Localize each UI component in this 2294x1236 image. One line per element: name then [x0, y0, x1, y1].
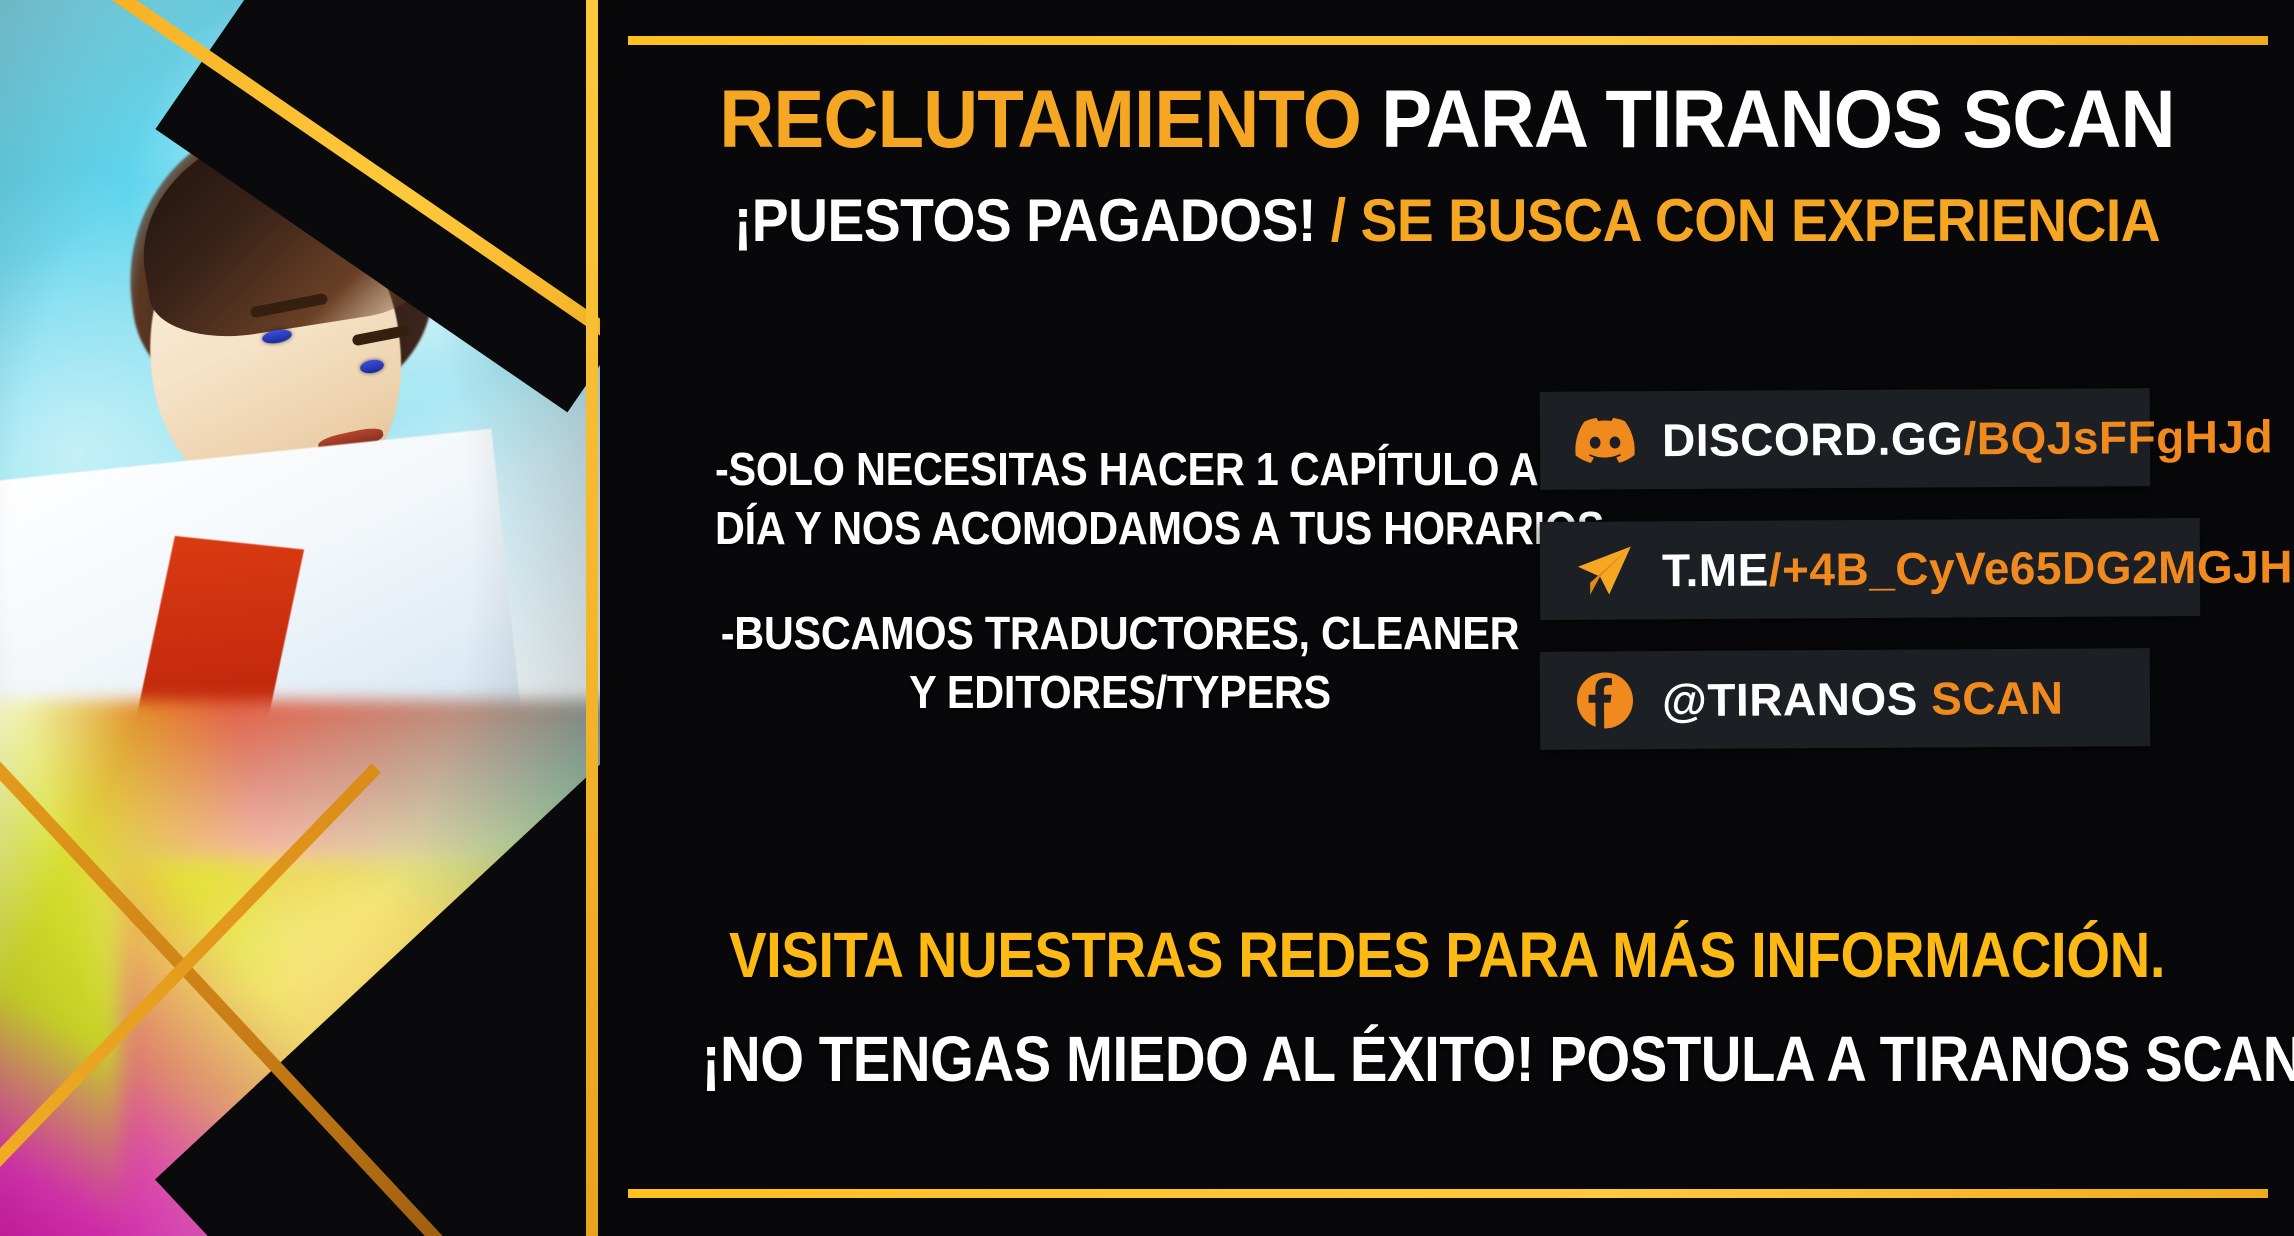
gold-rule-bottom: [628, 1189, 2268, 1198]
telegram-label: T.ME/+4B_CyVe65DG2MGJH: [1662, 539, 2293, 597]
title-rest: PARA TIRANOS SCAN: [1381, 74, 2174, 165]
facebook-handle-suffix: SCAN: [1931, 672, 2064, 725]
facebook-icon: [1574, 669, 1636, 731]
discord-icon: [1574, 409, 1636, 471]
discord-domain: DISCORD.GG: [1662, 412, 1964, 466]
artwork-panel: [0, 0, 600, 1236]
requirements-list: -SOLO NECESITAS HACER 1 CAPÍTULO AL DÍA …: [715, 440, 1525, 722]
discord-invite-code: /BQJsFFgHJd: [1963, 410, 2273, 464]
subtitle-experience: / SE BUSCA CON EXPERIENCIA: [1331, 187, 2160, 254]
discord-label: DISCORD.GG/BQJsFFgHJd: [1662, 409, 2273, 467]
telegram-icon: [1574, 539, 1636, 601]
contact-cards: DISCORD.GG/BQJsFFgHJd T.ME/+4B_CyVe65DG2…: [1540, 390, 2260, 780]
page-title: RECLUTAMIENTO PARA TIRANOS SCAN: [659, 78, 2234, 162]
contact-card-telegram[interactable]: T.ME/+4B_CyVe65DG2MGJH: [1540, 518, 2201, 620]
cta-line-2: ¡NO TENGAS MIEDO AL ÉXITO! POSTULA A TIR…: [702, 1022, 2193, 1096]
telegram-domain: T.ME: [1662, 544, 1769, 597]
telegram-invite-code: /+4B_CyVe65DG2MGJH: [1769, 540, 2294, 595]
cta-line-1: VISITA NUESTRAS REDES PARA MÁS INFORMACI…: [702, 918, 2193, 992]
title-highlight: RECLUTAMIENTO: [719, 74, 1361, 165]
requirement-line-3: -BUSCAMOS TRADUCTORES, CLEANER: [715, 604, 1525, 663]
requirement-line-2: DÍA Y NOS ACOMODAMOS A TUS HORARIOS: [715, 499, 1525, 558]
subtitle-paid: ¡PUESTOS PAGADOS!: [734, 187, 1316, 254]
page-subtitle: ¡PUESTOS PAGADOS! / SE BUSCA CON EXPERIE…: [668, 186, 2226, 255]
gold-vertical-edge: [586, 0, 598, 1236]
facebook-handle: @TIRANOS: [1662, 673, 1918, 727]
facebook-label: @TIRANOS SCAN: [1662, 671, 2064, 727]
requirements-spacer: [715, 558, 1525, 604]
content-panel: RECLUTAMIENTO PARA TIRANOS SCAN ¡PUESTOS…: [600, 0, 2294, 1236]
recruitment-banner: RECLUTAMIENTO PARA TIRANOS SCAN ¡PUESTOS…: [0, 0, 2294, 1236]
requirement-line-4: Y EDITORES/TYPERS: [715, 663, 1525, 722]
contact-card-discord[interactable]: DISCORD.GG/BQJsFFgHJd: [1540, 388, 2151, 490]
requirement-line-1: -SOLO NECESITAS HACER 1 CAPÍTULO AL: [715, 440, 1525, 499]
contact-card-facebook[interactable]: @TIRANOS SCAN: [1540, 648, 2151, 750]
gold-rule-top: [628, 36, 2268, 45]
